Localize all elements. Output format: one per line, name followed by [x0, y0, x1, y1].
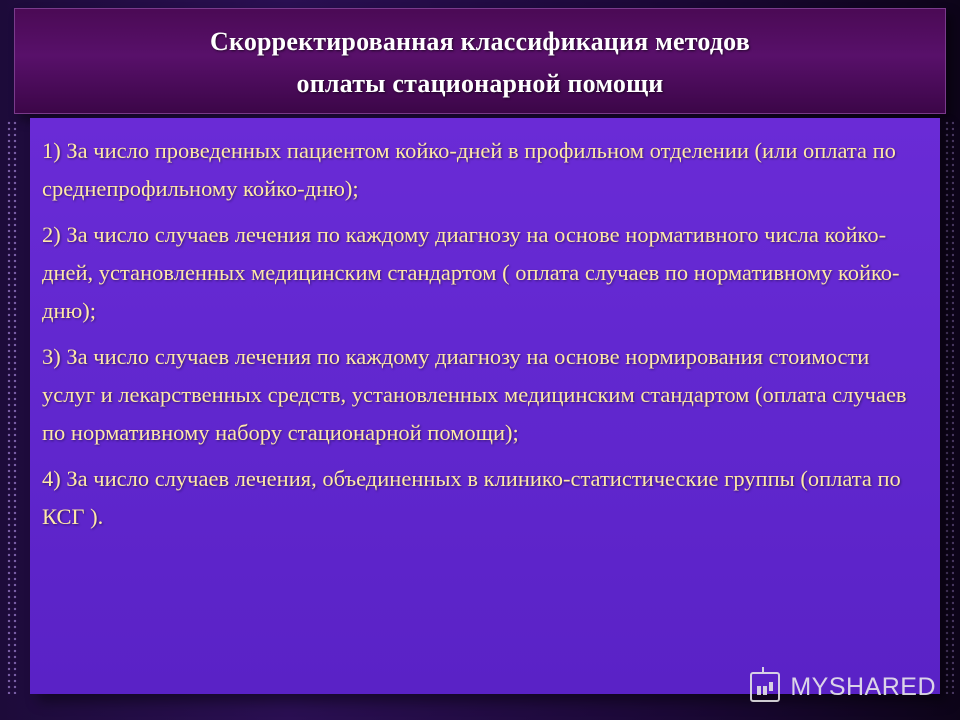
list-item-number: 4): [42, 466, 61, 491]
slide-title-line-2: оплаты стационарной помощи: [15, 63, 945, 105]
left-decorative-dots: [6, 120, 18, 694]
title-plate: Скорректированная классификация методов …: [14, 8, 946, 114]
list-item-text: За число случаев лечения по каждому диаг…: [42, 222, 900, 323]
list-item-number: 1): [42, 138, 61, 163]
list-item-number: 2): [42, 222, 61, 247]
list-item: 1) За число проведенных пациентом койко-…: [30, 132, 924, 208]
list-item: 3) За число случаев лечения по каждому д…: [30, 338, 924, 452]
list-item-number: 3): [42, 344, 61, 369]
list-item-text: За число случаев лечения, объединенных в…: [42, 466, 901, 529]
slide-root: Скорректированная классификация методов …: [0, 0, 960, 720]
presentation-chart-icon: [750, 672, 780, 702]
list-item-text: За число случаев лечения по каждому диаг…: [42, 344, 907, 445]
list-item-text: За число проведенных пациентом койко-дне…: [42, 138, 896, 201]
watermark-text: MYSHARED: [790, 673, 936, 702]
content-list: 1) За число проведенных пациентом койко-…: [30, 132, 940, 544]
list-item: 2) За число случаев лечения по каждому д…: [30, 216, 924, 330]
right-decorative-dots: [944, 120, 954, 694]
body-panel: 1) За число проведенных пациентом койко-…: [30, 118, 940, 694]
watermark: MYSHARED: [750, 672, 936, 702]
slide-title-line-1: Скорректированная классификация методов: [15, 21, 945, 63]
slide-title: Скорректированная классификация методов …: [15, 21, 945, 105]
list-item: 4) За число случаев лечения, объединенны…: [30, 460, 924, 536]
